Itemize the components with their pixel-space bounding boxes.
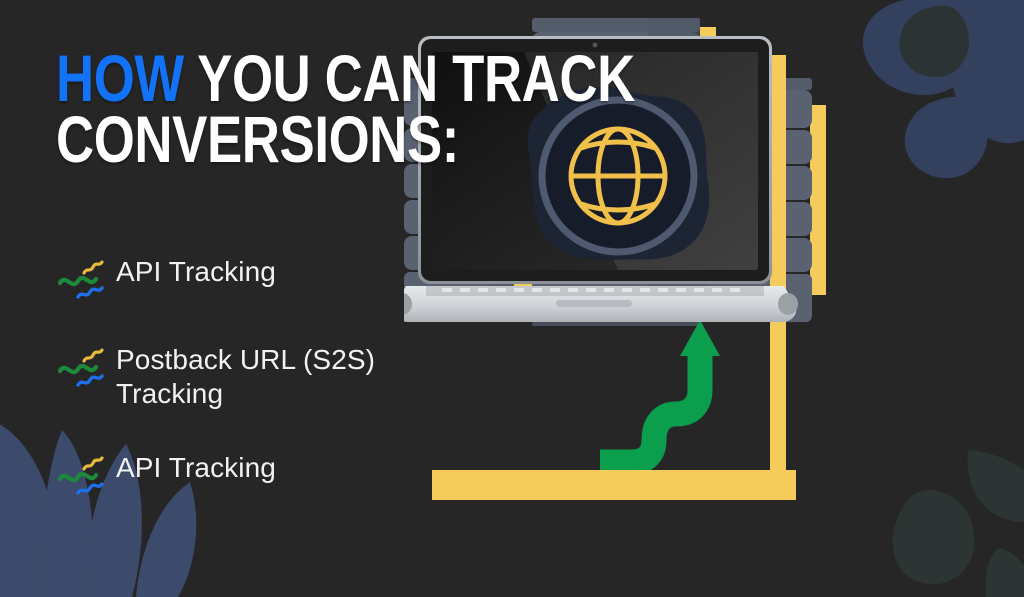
list-item-label: Postback URL (S2S) Tracking: [108, 343, 428, 411]
headline-line-2: CONVERSIONS:: [56, 109, 576, 170]
poster-canvas: HOW YOU CAN TRACK CONVERSIONS: API Track…: [0, 0, 1024, 597]
list-item[interactable]: API Tracking: [56, 255, 456, 303]
list-item[interactable]: Postback URL (S2S) Tracking: [56, 343, 456, 411]
squiggle-bullet-icon: [56, 345, 108, 391]
tracking-methods-list: API Tracking Postback URL (S2S) Tracking: [56, 255, 456, 539]
list-item[interactable]: API Tracking: [56, 451, 456, 499]
green-arrow-up-icon: [600, 320, 720, 462]
squiggle-bullet-icon: [56, 257, 108, 303]
headline-line-1: HOW YOU CAN TRACK: [56, 48, 576, 109]
page-title: HOW YOU CAN TRACK CONVERSIONS:: [56, 48, 706, 171]
squiggle-bullet-icon: [56, 453, 108, 499]
list-item-label: API Tracking: [108, 451, 276, 485]
list-item-label: API Tracking: [108, 255, 276, 289]
